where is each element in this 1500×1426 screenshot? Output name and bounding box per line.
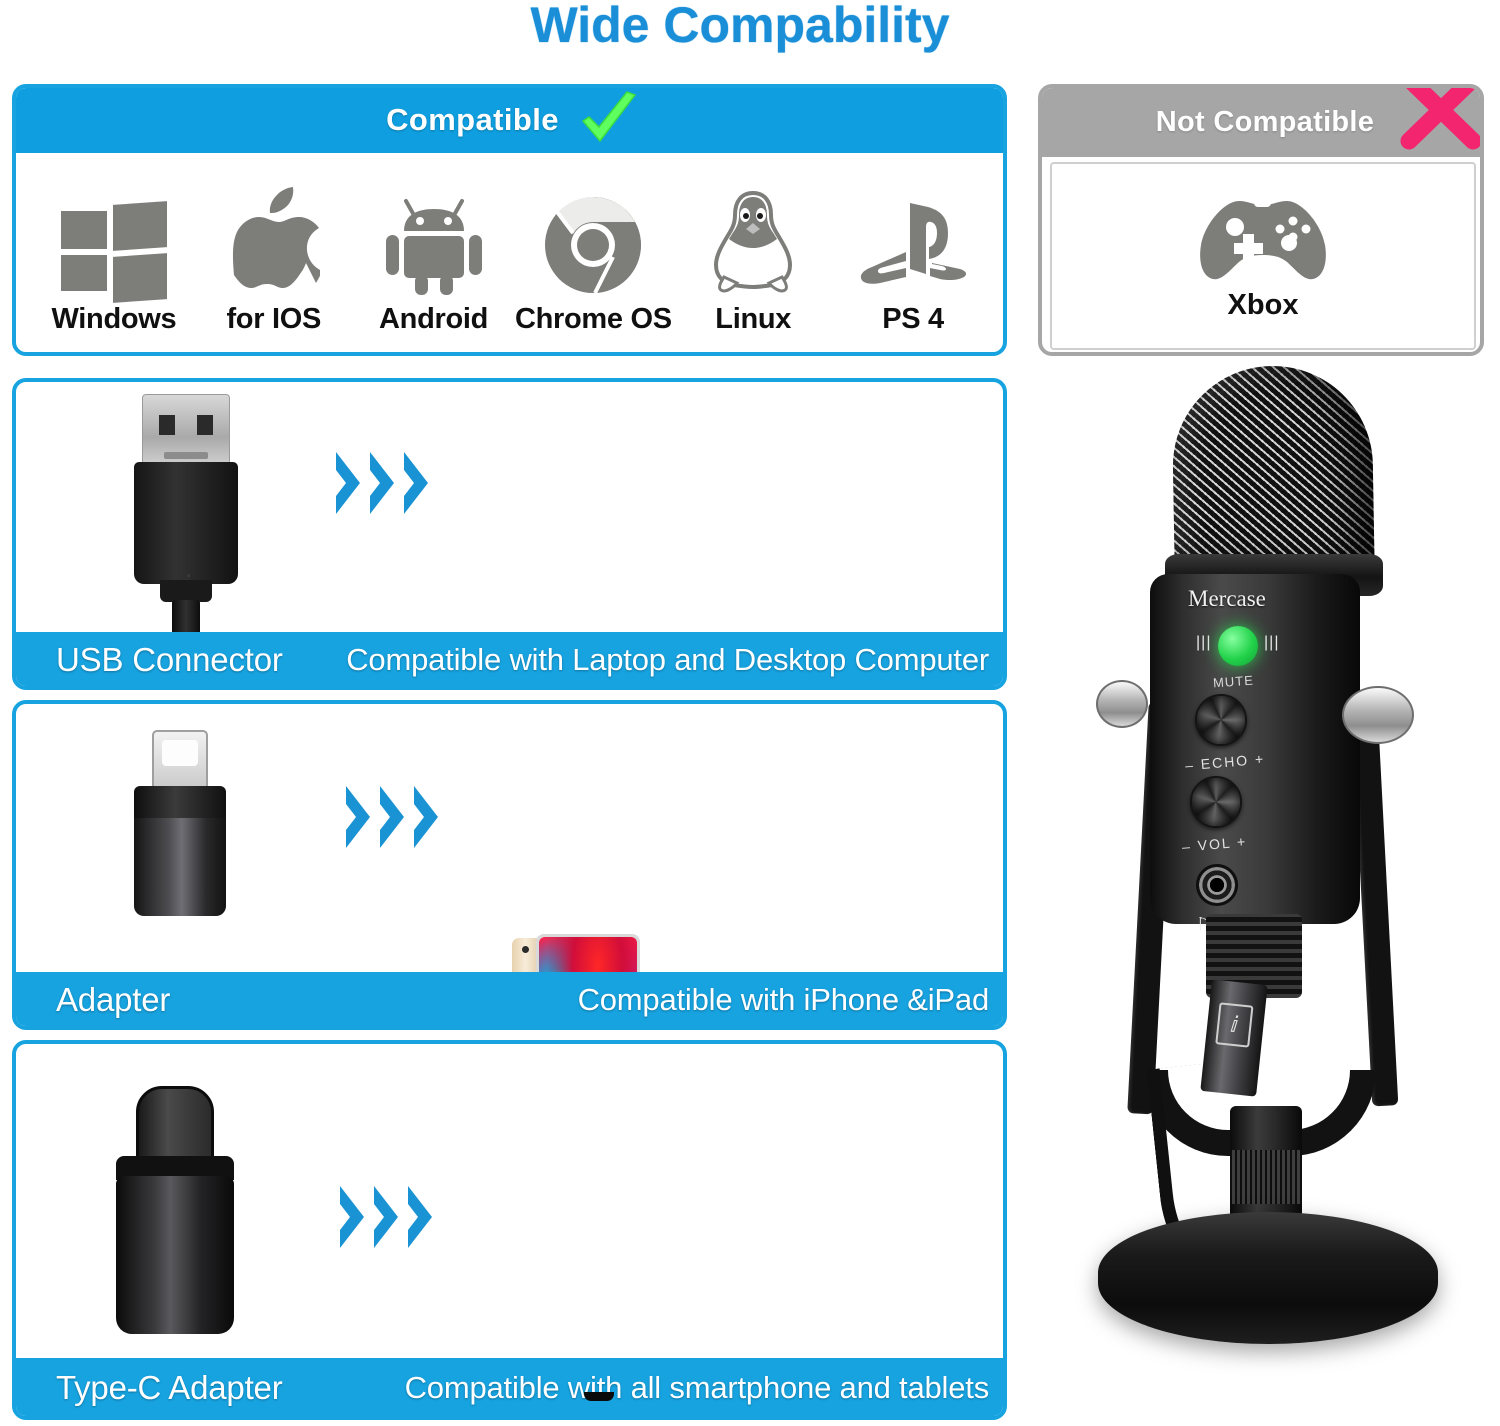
not-compatible-platform-list: Xbox [1050,162,1476,350]
compatible-header-label: Compatible [386,102,559,138]
usb-icon: ⅈ [1215,1002,1253,1047]
mic-body [1150,574,1360,924]
lightning-adapter-icon [126,730,234,920]
compatibility-label: Compatible with all smartphone and table… [405,1370,1005,1406]
connector-label: USB Connector [14,641,283,679]
platform-label: Windows [51,303,176,336]
platform-item-chromeos: Chrome OS [517,187,669,336]
brand-label: Mercase [1188,586,1266,612]
feature-row-lightning-adapter: Adapter Compatible with iPhone &iPad [12,700,1007,1030]
product-microphone-image: Mercase ||| ||| MUTE – ECHO + – VOL + ⚐ … [1010,358,1500,1426]
green-check-icon [577,91,641,149]
platform-label: PS 4 [882,303,944,336]
not-compatible-panel: Not Compatible Xbox [1038,84,1484,356]
triple-chevron-right-icon [344,784,442,850]
usb-a-connector-icon: ⅈ [120,394,252,638]
platform-label: Chrome OS [515,303,672,336]
feature-row-illustration [16,704,1003,972]
compatible-panel-header: Compatible [15,87,1007,153]
platform-label: Android [379,303,488,336]
chrome-logo-icon [543,187,643,295]
platform-label: for IOS [226,303,321,336]
echo-knob[interactable] [1195,694,1247,746]
platform-label: Linux [715,303,791,336]
stand-base [1098,1212,1438,1344]
platform-item-ps4: PS 4 [837,187,989,336]
platform-item-windows: Windows [38,187,190,336]
headphone-jack[interactable] [1196,864,1238,906]
feature-row-type-c-adapter: 10:08 T [12,1040,1007,1420]
android-robot-icon [382,187,486,295]
platform-item-ios: for IOS [198,187,350,336]
page-title: Wide Compability [460,0,1020,54]
feature-row-illustration: 10:08 [16,1044,1003,1356]
mic-grille [1171,364,1375,579]
platform-item-android: Android [358,187,510,336]
mute-label: MUTE [1213,673,1255,691]
pink-x-icon [1395,84,1483,157]
mic-mount-screw-left[interactable] [1096,680,1148,728]
feature-row-illustration: ⅈ [16,382,1003,632]
platform-item-linux: Linux [677,187,829,336]
connector-label: Adapter [14,981,170,1019]
windows-logo-icon [61,187,167,295]
triple-chevron-right-icon [338,1184,436,1250]
playstation-logo-icon [858,187,968,295]
apple-logo-icon [228,187,320,295]
feature-row-label-bar: USB Connector Compatible with Laptop and… [14,632,1005,688]
mic-mount-screw-right[interactable] [1342,686,1414,744]
feature-row-label-bar: Adapter Compatible with iPhone &iPad [14,972,1005,1028]
not-compatible-header-label: Not Compatible [1156,106,1374,139]
feature-row-usb-connector: ⅈ USB Connector Compatible with Lap [12,378,1007,690]
compatible-platform-list: Windows for IOS [16,160,1007,350]
connector-label: Type-C Adapter [14,1369,283,1407]
compatibility-label: Compatible with Laptop and Desktop Compu… [346,642,1005,678]
xbox-controller-icon [1197,191,1329,283]
platform-label: Xbox [1228,289,1299,322]
triple-chevron-right-icon [334,450,432,516]
compatible-panel: Compatible Windows for IOS [12,84,1007,356]
not-compatible-panel-header: Not Compatible [1041,87,1484,157]
compatibility-label: Compatible with iPhone &iPad [578,982,1005,1018]
mute-button[interactable] [1218,626,1258,666]
type-c-adapter-icon [100,1086,250,1338]
sound-wave-left-icon: ||| [1196,634,1211,652]
feature-row-label-bar: Type-C Adapter Compatible with all smart… [14,1358,1005,1418]
sound-wave-right-icon: ||| [1264,634,1279,652]
linux-penguin-icon [710,187,796,295]
volume-knob[interactable] [1190,776,1242,828]
